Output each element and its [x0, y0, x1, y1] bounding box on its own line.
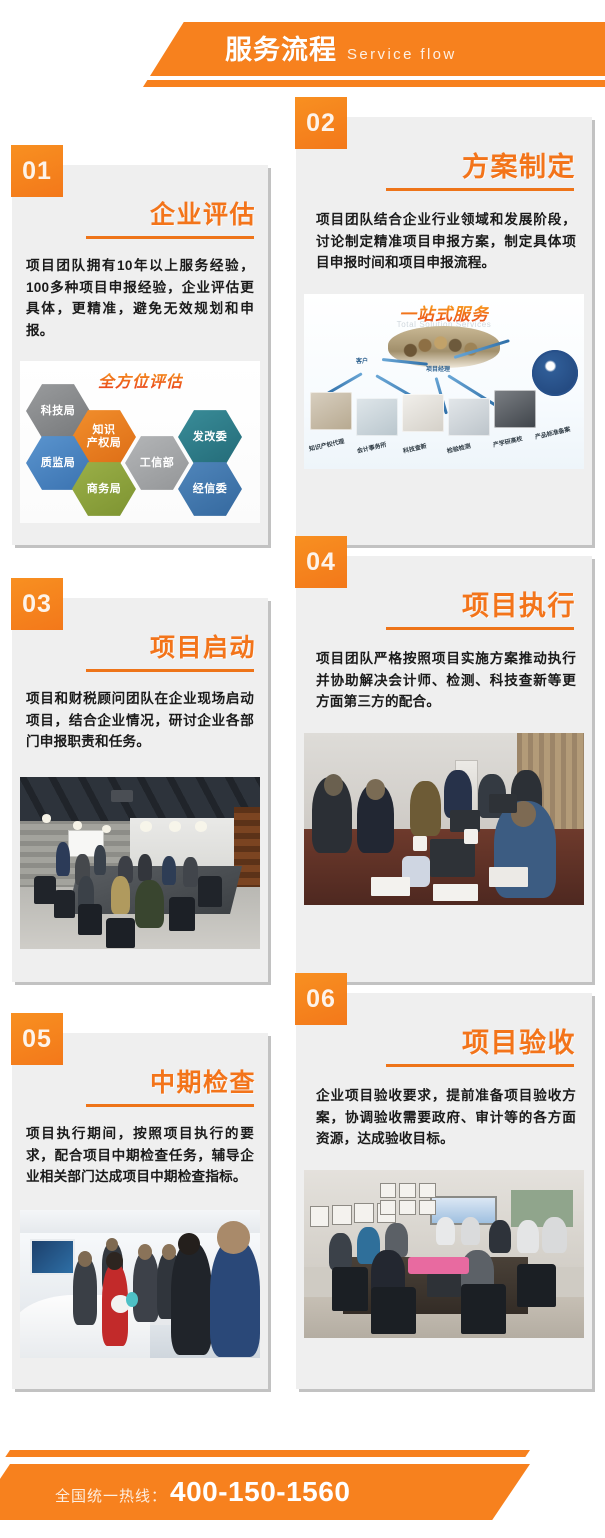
card-body-text: 项目执行期间，按照项目执行的要求，配合项目中期检查任务，辅导企业相关部门达成项目… [12, 1107, 268, 1202]
hex-node-jingxin: 经信委 [178, 461, 242, 517]
head [78, 1251, 92, 1267]
hex-label: 工信部 [140, 457, 175, 470]
chair [198, 876, 222, 907]
person [329, 1233, 351, 1270]
person [517, 1220, 539, 1254]
person-blue-jacket [210, 1239, 260, 1357]
certificate-frame [399, 1200, 416, 1215]
hexagon-diagram-title: 全方位评估 [98, 368, 183, 392]
step-number-badge: 02 [295, 97, 347, 149]
card-title: 方案制定 [296, 151, 576, 183]
step-card-06[interactable]: 06 项目验收 企业项目验收要求，提前准备项目验收方案，协调验收需要政府、审计等… [296, 993, 592, 1389]
hex-node-gongxin: 工信部 [125, 435, 189, 491]
step-card-03[interactable]: 03 项目启动 项目和财税顾问团队在企业现场启动项目，结合企业情况，研讨企业各部… [12, 598, 268, 982]
service-label: 产学研高校 [492, 433, 523, 449]
chair [169, 897, 195, 931]
acceptance-meeting-photo [304, 1170, 584, 1338]
chair [461, 1284, 506, 1334]
documents [433, 884, 478, 901]
certificate-frame [354, 1203, 374, 1223]
laptop [489, 794, 517, 813]
team-laptops-photo [304, 733, 584, 905]
card-body-text: 项目团队结合企业行业领域和发展阶段，讨论制定精准项目申报方案，制定具体项目申报时… [296, 191, 592, 288]
card-media-conference-room-kickoff-photo [20, 777, 260, 949]
footer-accent-line [5, 1450, 530, 1457]
certificate-frame [380, 1183, 397, 1198]
hotline-number[interactable]: 400-150-1560 [170, 1476, 350, 1508]
page-subtitle: Service flow [347, 45, 457, 65]
one-stop-diagram: 一站式服务 Total Solution Services 客户 项目经理 知识… [304, 294, 584, 469]
hex-label: 质监局 [41, 457, 76, 470]
person [138, 854, 152, 882]
header-title-group: 服务流程 Service flow [225, 33, 457, 67]
person [133, 1251, 159, 1322]
person [111, 876, 130, 914]
step-number-badge: 06 [295, 973, 347, 1025]
hex-label: 商务局 [87, 483, 122, 496]
hub-label-manager: 项目经理 [426, 364, 450, 373]
person [135, 880, 164, 928]
chair [332, 1267, 368, 1311]
laptop [430, 839, 475, 877]
page-footer: 全国统一热线： 400-150-1560 [0, 1416, 605, 1538]
hex-node-fagai: 发改委 [178, 409, 242, 465]
hex-label: 经信委 [193, 483, 228, 496]
card-body-text: 企业项目验收要求，提前准备项目验收方案，协调验收需要政府、审计等的各方面资源，达… [296, 1067, 592, 1164]
service-label: 检验检测 [446, 440, 471, 454]
hotline-label: 全国统一热线： [55, 1482, 167, 1512]
step-card-01[interactable]: 01 企业评估 项目团队拥有10年以上服务经验，100多种项目申报经验，企业评估… [12, 165, 268, 545]
card-body-text: 项目和财税顾问团队在企业现场启动项目，结合企业情况，研讨企业各部门申报职责和任务… [12, 672, 268, 767]
service-node-testing [448, 398, 490, 436]
ceiling-light [42, 814, 52, 823]
card-title: 中期检查 [12, 1067, 256, 1099]
card-body-text: 项目团队拥有10年以上服务经验，100多种项目申报经验，企业评估更具体，更精准，… [12, 239, 268, 355]
service-node-tech-search [402, 394, 444, 432]
paper-cup [464, 829, 478, 844]
head [217, 1221, 251, 1254]
card-media-one-stop-service-diagram: 一站式服务 Total Solution Services 客户 项目经理 知识… [304, 294, 584, 469]
person [410, 781, 441, 836]
chair [54, 890, 76, 918]
step-number-badge: 04 [295, 536, 347, 588]
card-title: 项目执行 [296, 590, 576, 622]
head [324, 774, 344, 796]
chair [371, 1287, 416, 1334]
card-title: 项目验收 [296, 1027, 576, 1059]
service-node-ip [310, 392, 352, 430]
laptop [427, 1274, 461, 1298]
hex-label: 知识产权局 [87, 424, 122, 450]
step-card-04[interactable]: 04 项目执行 项目团队严格按照项目实施方案推动执行并协助解决会计师、检测、科技… [296, 556, 592, 982]
person [73, 1257, 97, 1325]
card-media-acceptance-meeting-photo [304, 1170, 584, 1338]
certification-seal-icon [532, 350, 578, 396]
service-label: 知识产权代理 [308, 436, 345, 453]
hotline-group: 全国统一热线： 400-150-1560 [55, 1476, 350, 1512]
person [162, 856, 176, 885]
step-number-badge: 05 [11, 1013, 63, 1065]
service-node-accounting [356, 398, 398, 436]
conference-room-photo [20, 777, 260, 949]
card-title: 企业评估 [12, 199, 256, 231]
head [366, 779, 386, 800]
service-label: 科技查新 [402, 440, 427, 454]
card-media-team-working-laptops-photo [304, 733, 584, 905]
hexagon-diagram: 全方位评估 科技局 知识产权局 质监局 商务局 工信部 发改委 经信委 [20, 361, 260, 523]
folder [126, 1292, 138, 1307]
ceiling-light [169, 821, 181, 831]
chair [106, 918, 135, 949]
head [162, 1244, 176, 1260]
card-title: 项目启动 [12, 632, 256, 664]
page-header: 服务流程 Service flow [0, 0, 605, 112]
ceiling-light [195, 821, 207, 831]
service-label: 会计事务所 [356, 439, 387, 455]
ceiling-light [140, 821, 152, 831]
paper-cup [413, 836, 427, 851]
person [56, 842, 70, 876]
showroom-photo [20, 1210, 260, 1358]
ceiling-light [73, 821, 83, 830]
service-node-university [494, 390, 536, 428]
hub-label-customer: 客户 [356, 356, 368, 365]
certificate-frame [399, 1183, 416, 1198]
head [138, 1244, 152, 1260]
card-media-all-round-assessment-hexagon-diagram: 全方位评估 科技局 知识产权局 质监局 商务局 工信部 发改委 经信委 [20, 361, 260, 523]
person-black-jacket [171, 1242, 212, 1354]
page-title: 服务流程 [225, 33, 337, 67]
chair [34, 876, 56, 904]
step-number-badge: 03 [11, 578, 63, 630]
certificate-frame [419, 1200, 436, 1215]
flow-arrow [327, 372, 363, 395]
projector [111, 790, 133, 802]
documents [489, 867, 528, 888]
display-screen [30, 1239, 76, 1275]
step-card-05[interactable]: 05 中期检查 项目执行期间，按照项目执行的要求，配合项目中期检查任务，辅导企业… [12, 1033, 268, 1389]
person [436, 1217, 456, 1246]
certificate-frame [380, 1200, 397, 1215]
step-card-02[interactable]: 02 方案制定 项目团队结合企业行业领域和发展阶段，讨论制定精准项目申报方案，制… [296, 117, 592, 545]
step-number-badge: 01 [11, 145, 63, 197]
person [489, 1220, 511, 1254]
hex-label: 发改委 [193, 431, 228, 444]
service-label: 产品标准备案 [534, 424, 571, 441]
certificate-frame [419, 1183, 436, 1198]
person [183, 857, 197, 886]
flowers [408, 1257, 470, 1274]
person [542, 1217, 567, 1254]
documents [371, 877, 410, 896]
card-body-text: 项目团队严格按照项目实施方案推动执行并协助解决会计师、检测、科技查新等更方面第三… [296, 630, 592, 727]
person [94, 845, 106, 874]
card-media-showroom-visit-photo [20, 1210, 260, 1358]
chair [78, 904, 102, 935]
chair [517, 1264, 556, 1308]
certificate-frame [310, 1206, 330, 1226]
person [461, 1217, 481, 1246]
certificate-frame [332, 1205, 352, 1225]
service-flow-infographic: 服务流程 Service flow 01 企业评估 项目团队拥有10年以上服务经… [0, 0, 605, 1538]
hex-label: 科技局 [41, 405, 76, 418]
header-band-secondary [143, 80, 605, 87]
